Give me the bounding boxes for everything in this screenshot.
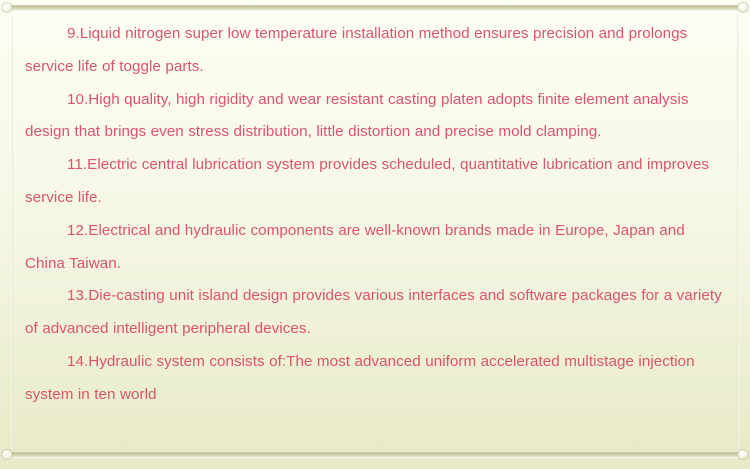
- top-ornamental-rule: [0, 2, 750, 14]
- ornamental-dot-bottom-left: [2, 450, 12, 459]
- ornamental-dot-top-right: [738, 3, 748, 12]
- feature-paragraph-14: 14.Hydraulic system consists of:The most…: [25, 346, 725, 412]
- ornamental-dot-top-left: [2, 3, 12, 12]
- top-rule-highlight: [8, 10, 742, 11]
- feature-paragraph-13: 13.Die-casting unit island design provid…: [25, 280, 725, 346]
- bottom-ornamental-rule: [0, 449, 750, 461]
- ornamental-dot-bottom-right: [738, 450, 748, 459]
- feature-paragraph-10: 10.High quality, high rigidity and wear …: [25, 84, 725, 150]
- document-page: 9.Liquid nitrogen super low temperature …: [0, 0, 750, 469]
- feature-paragraph-9: 9.Liquid nitrogen super low temperature …: [25, 18, 725, 84]
- document-body: 9.Liquid nitrogen super low temperature …: [25, 18, 725, 412]
- left-edge-line: [11, 14, 13, 455]
- bottom-rule-highlight: [8, 457, 742, 458]
- right-edge-line: [737, 14, 739, 455]
- feature-paragraph-12: 12.Electrical and hydraulic components a…: [25, 215, 725, 281]
- feature-paragraph-11: 11.Electric central lubrication system p…: [25, 149, 725, 215]
